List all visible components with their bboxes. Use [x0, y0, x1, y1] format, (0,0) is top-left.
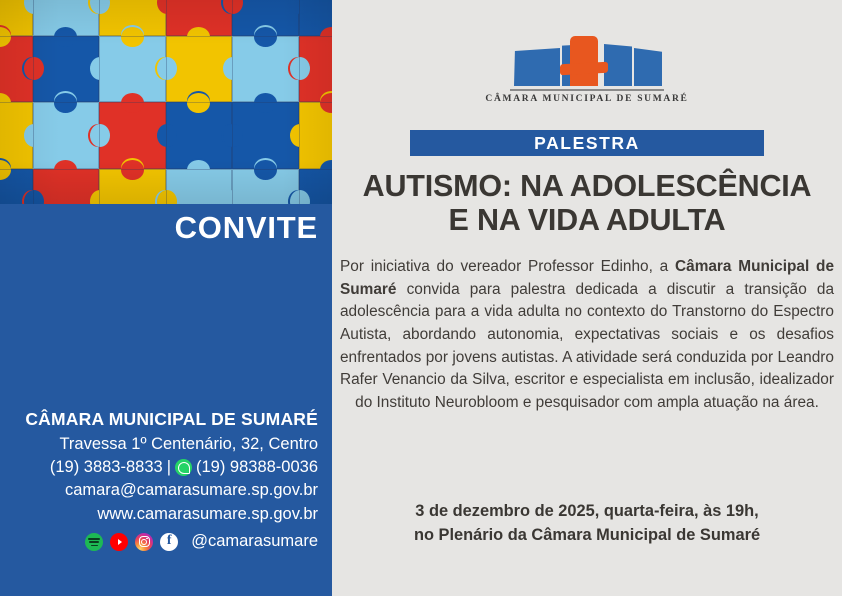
autism-puzzle-image [0, 0, 332, 204]
logo-orange-column [570, 36, 598, 86]
left-panel: CONVITE CÂMARA MUNICIPAL DE SUMARÉ Trave… [0, 0, 332, 596]
logo-orange-band [560, 62, 608, 76]
facebook-icon[interactable]: f [160, 533, 178, 551]
puzzle-piece [33, 169, 100, 205]
phone-number: (19) 3883-8833 [50, 456, 163, 479]
logo-panel-midright [604, 44, 632, 86]
event-title-line-2: E NA VIDA ADULTA [338, 204, 836, 238]
puzzle-grid [0, 0, 332, 204]
puzzle-piece [166, 169, 233, 205]
puzzle-piece [166, 102, 233, 169]
social-handle: @camarasumare [191, 532, 318, 551]
phone-separator: | [163, 456, 175, 479]
event-description: Por iniciativa do vereador Professor Edi… [340, 256, 834, 414]
invite-heading-block: CONVITE [0, 212, 332, 245]
invite-label: CONVITE [0, 212, 318, 245]
contact-block: CÂMARA MUNICIPAL DE SUMARÉ Travessa 1º C… [0, 408, 332, 551]
event-title: AUTISMO: NA ADOLESCÊNCIA E NA VIDA ADULT… [338, 170, 836, 238]
puzzle-piece [232, 169, 299, 205]
event-location-line: no Plenário da Câmara Municipal de Sumar… [340, 524, 834, 548]
puzzle-piece [33, 102, 100, 169]
facebook-glyph: f [160, 533, 178, 551]
organization-name: CÂMARA MUNICIPAL DE SUMARÉ [0, 408, 318, 432]
phone-line: (19) 3883-8833 | (19) 98388-0036 [0, 456, 318, 479]
right-panel: CÂMARA MUNICIPAL DE SUMARÉ PALESTRA AUTI… [332, 0, 842, 596]
puzzle-piece [232, 102, 299, 169]
email-line[interactable]: camara@camarasumare.sp.gov.br [0, 479, 318, 502]
whatsapp-number: (19) 98388-0036 [196, 456, 318, 479]
logo-block: CÂMARA MUNICIPAL DE SUMARÉ [332, 36, 842, 104]
puzzle-piece [299, 102, 332, 169]
logo-panel-right [634, 48, 662, 86]
whatsapp-icon [175, 459, 192, 476]
palestra-label: PALESTRA [534, 133, 640, 154]
event-title-line-1: AUTISMO: NA ADOLESCÊNCIA [338, 170, 836, 204]
puzzle-piece [299, 169, 332, 205]
youtube-icon[interactable] [110, 533, 128, 551]
social-media-row: f @camarasumare [0, 532, 318, 551]
description-segment-1: Por iniciativa do vereador Professor Edi… [340, 258, 675, 275]
puzzle-piece [99, 102, 166, 169]
logo-rule [510, 89, 664, 91]
website-line[interactable]: www.camarasumare.sp.gov.br [0, 503, 318, 526]
camara-logo-icon [510, 36, 664, 86]
logo-caption: CÂMARA MUNICIPAL DE SUMARÉ [485, 94, 688, 104]
description-segment-2: convida para palestra dedicada a discuti… [340, 281, 834, 411]
palestra-banner: PALESTRA [410, 130, 764, 156]
spotify-icon[interactable] [85, 533, 103, 551]
instagram-icon[interactable] [135, 533, 153, 551]
puzzle-piece [299, 36, 332, 103]
event-datetime: 3 de dezembro de 2025, quarta-feira, às … [340, 500, 834, 548]
puzzle-piece [99, 169, 166, 205]
address-line: Travessa 1º Centenário, 32, Centro [0, 433, 318, 456]
logo-panel-left [514, 48, 560, 86]
event-date-line: 3 de dezembro de 2025, quarta-feira, às … [340, 500, 834, 524]
